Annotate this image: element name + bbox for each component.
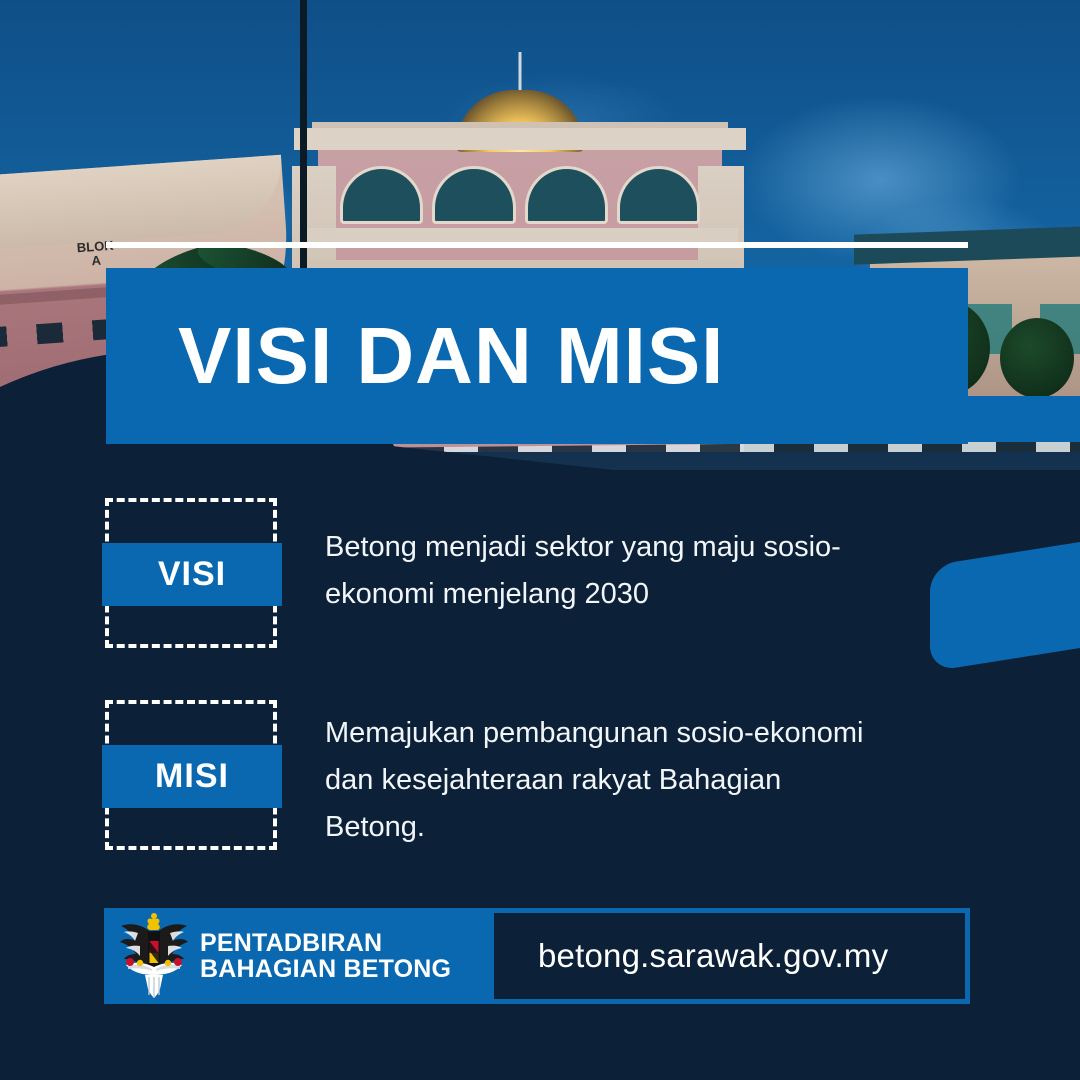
roof-cap bbox=[294, 128, 746, 150]
visi-text: Betong menjadi sektor yang maju sosio-ek… bbox=[325, 498, 885, 648]
sarawak-coat-of-arms-icon bbox=[118, 913, 190, 999]
misi-text: Memajukan pembangunan sosio-ekonomi dan … bbox=[325, 700, 885, 851]
org-line-2: BAHAGIAN BETONG bbox=[200, 956, 451, 983]
upper-arches bbox=[340, 166, 700, 224]
visi-dashed-frame: VISI bbox=[105, 498, 277, 648]
accent-shape-top-right bbox=[968, 396, 1080, 442]
website-panel[interactable]: betong.sarawak.gov.my bbox=[489, 908, 970, 1004]
lamp-post bbox=[300, 0, 307, 300]
misi-dashed-frame: MISI bbox=[105, 700, 277, 850]
poster: KOMPLEKS PEJABAT KERAJAAN BLOK A VISI bbox=[0, 0, 1080, 1080]
section-visi: VISI Betong menjadi sektor yang maju sos… bbox=[0, 498, 1080, 648]
spire bbox=[519, 52, 522, 92]
organisation-name: PENTADBIRAN BAHAGIAN BETONG bbox=[200, 930, 451, 983]
visi-tag: VISI bbox=[102, 543, 282, 606]
section-misi: MISI Memajukan pembangunan sosio-ekonomi… bbox=[0, 700, 1080, 851]
misi-tag: MISI bbox=[102, 745, 282, 808]
footer-brand: PENTADBIRAN BAHAGIAN BETONG bbox=[104, 908, 489, 1004]
website-url[interactable]: betong.sarawak.gov.my bbox=[538, 937, 888, 975]
page-title: VISI DAN MISI bbox=[106, 316, 724, 396]
tree bbox=[1000, 318, 1074, 398]
title-banner: VISI DAN MISI bbox=[106, 268, 968, 444]
org-line-1: PENTADBIRAN bbox=[200, 930, 451, 957]
title-rule bbox=[106, 242, 968, 248]
footer-bar: PENTADBIRAN BAHAGIAN BETONG betong.saraw… bbox=[104, 908, 970, 1004]
